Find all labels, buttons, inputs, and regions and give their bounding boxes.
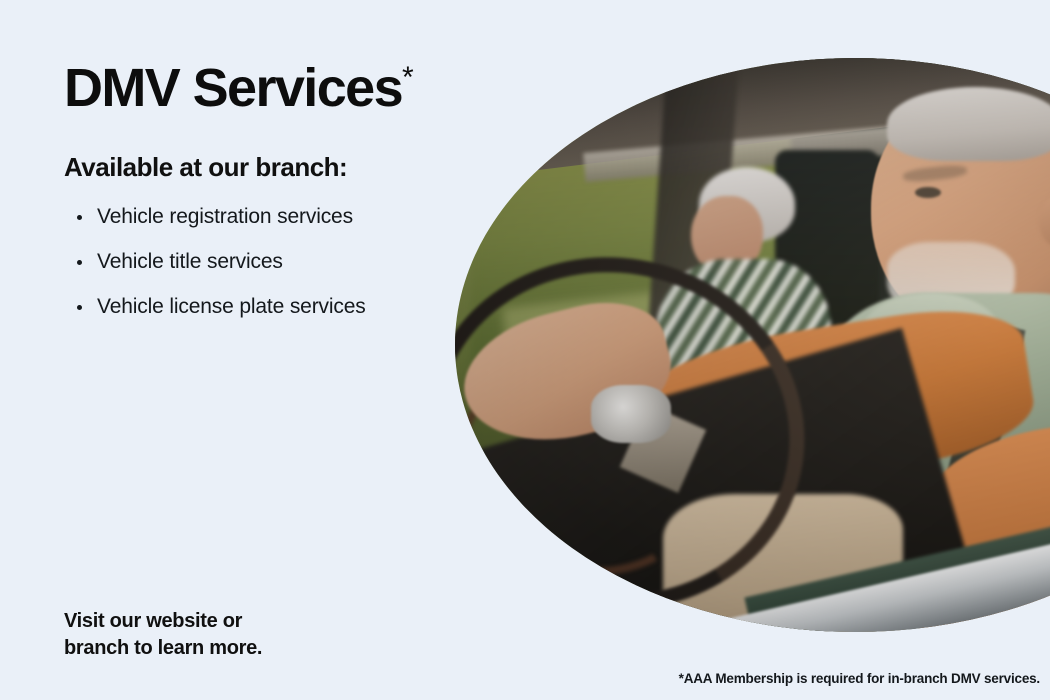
- driver-hair: [887, 87, 1050, 162]
- bullet-icon: [77, 215, 82, 220]
- list-item-label: Vehicle title services: [97, 250, 283, 273]
- list-item-label: Vehicle license plate services: [97, 295, 366, 318]
- driver-eye: [915, 187, 941, 198]
- bullet-icon: [77, 260, 82, 265]
- text-content: DMV Services* Available at our branch: V…: [64, 60, 464, 340]
- hero-photo: [455, 58, 1050, 632]
- cta-line-1: Visit our website or: [64, 608, 262, 635]
- subheading: Available at our branch:: [64, 152, 464, 183]
- list-item: Vehicle title services: [64, 250, 464, 274]
- call-to-action: Visit our website or branch to learn mor…: [64, 608, 262, 661]
- list-item-label: Vehicle registration services: [97, 205, 353, 228]
- photo-scene: [455, 58, 1050, 632]
- page-title-asterisk: *: [402, 61, 414, 94]
- list-item: Vehicle license plate services: [64, 295, 464, 319]
- bullet-icon: [77, 305, 82, 310]
- dmv-services-banner: DMV Services* Available at our branch: V…: [0, 0, 1050, 700]
- cta-line-2: branch to learn more.: [64, 635, 262, 662]
- disclaimer-footnote: *AAA Membership is required for in-branc…: [679, 671, 1040, 686]
- services-list: Vehicle registration services Vehicle ti…: [64, 205, 464, 319]
- list-item: Vehicle registration services: [64, 205, 464, 229]
- page-title: DMV Services*: [64, 60, 464, 116]
- wristwatch-icon: [591, 385, 671, 442]
- page-title-text: DMV Services: [64, 58, 402, 118]
